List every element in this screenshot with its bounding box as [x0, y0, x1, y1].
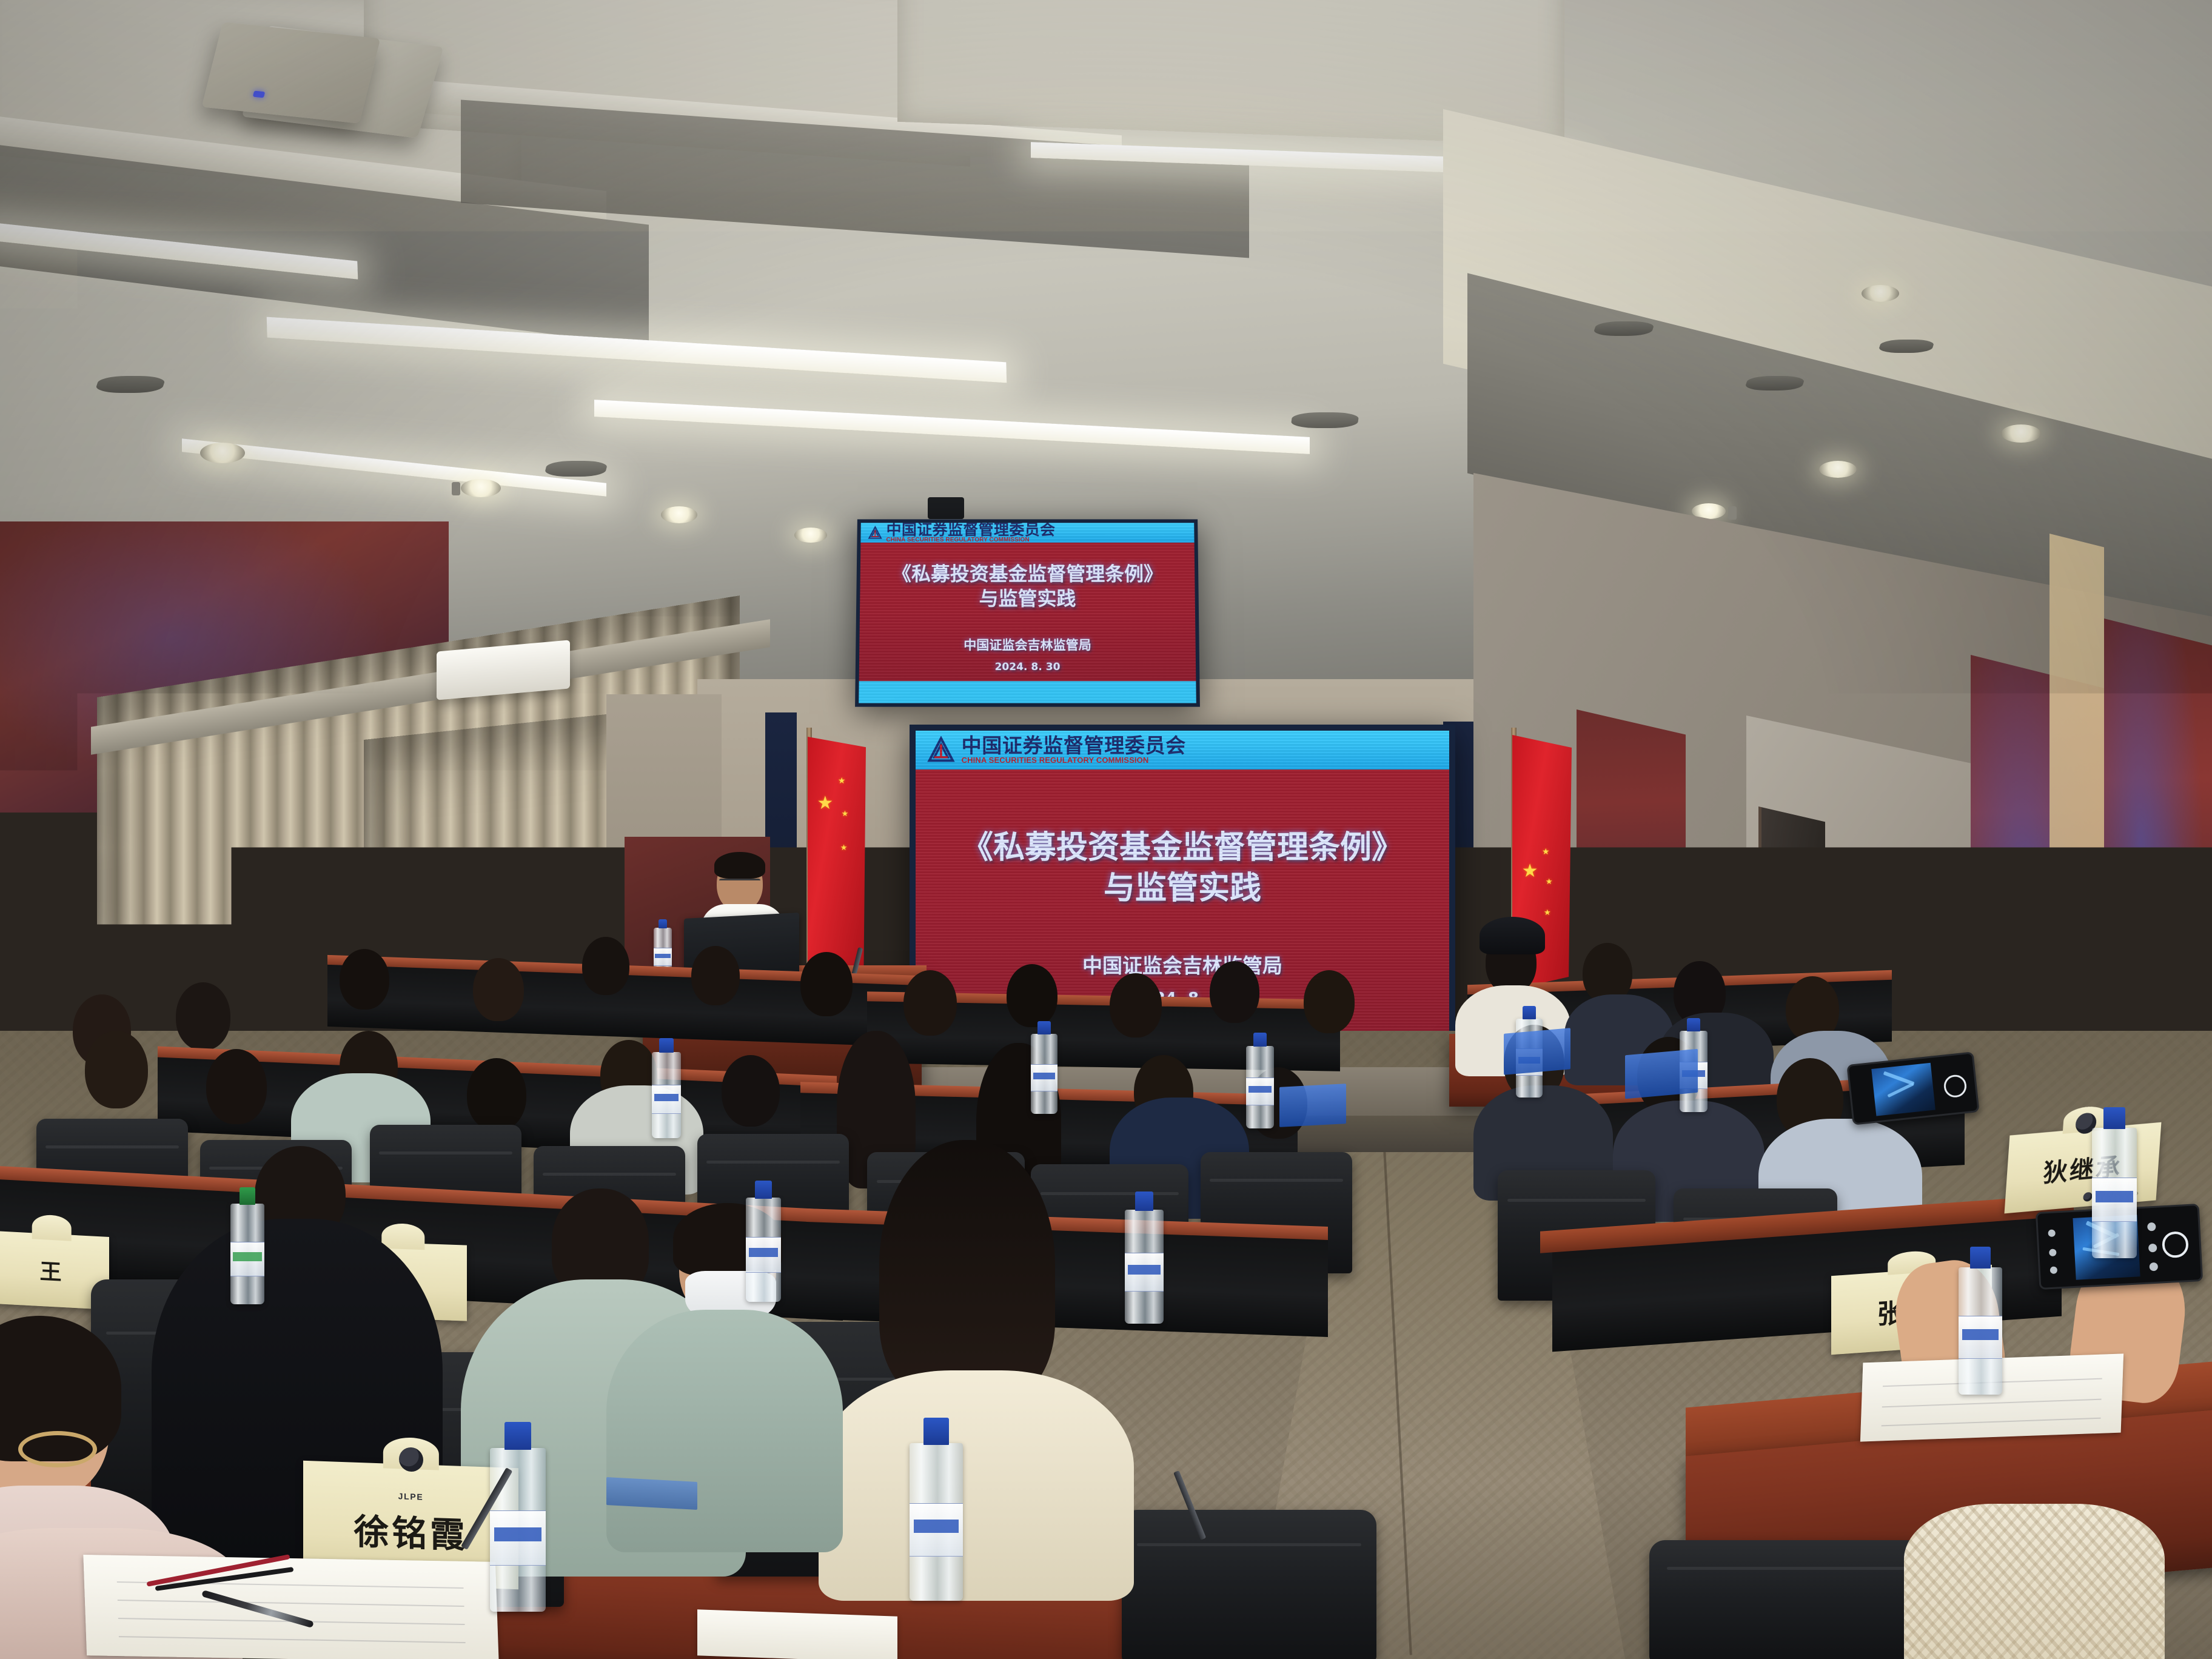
overhead-title: 《私募投资基金监督管理条例》 与监管实践: [892, 561, 1164, 611]
shutter-button[interactable]: [2162, 1232, 2188, 1258]
chair-foreground-4[interactable]: [1122, 1510, 1376, 1659]
audience-head-c4: [1110, 973, 1162, 1037]
overhead-monitor[interactable]: 中国证券监督管理委员会 CHINA SECURITIES REGULATORY …: [855, 519, 1200, 706]
ceiling-projector: [202, 22, 381, 123]
bottle-cap: [659, 1038, 673, 1053]
ceiling-vent-4: [1744, 376, 1806, 390]
placard-name-xu: 徐铭霞: [354, 1503, 468, 1558]
audience-head-f5: [582, 937, 629, 995]
audience-head-m4: [467, 1058, 526, 1131]
csrc-wordmark: 中国证券监督管理委员会 CHINA SECURITIES REGULATORY …: [886, 522, 1055, 543]
csrc-triangle-logo-main: [927, 736, 955, 764]
audience-laptop-4[interactable]: [606, 1477, 697, 1510]
csrc-wordmark-main: 中国证券监督管理委员会 CHINA SECURITIES REGULATORY …: [962, 736, 1186, 764]
bottle-label: [490, 1510, 546, 1566]
bottle-label: [2092, 1178, 2137, 1222]
audience-head-f1: [176, 982, 230, 1050]
downlight-9: [1862, 285, 1899, 302]
audience-head-m1: [85, 1031, 148, 1108]
projector-led: [253, 90, 265, 98]
water-bottle-3: [1125, 1210, 1164, 1324]
phone-ui-dot-1: [2048, 1229, 2056, 1237]
ceiling-vent-2: [544, 461, 608, 477]
notepad-center: [697, 1609, 897, 1659]
ceiling-vent-5: [1877, 340, 1935, 353]
water-bottle-11: [1959, 1267, 2002, 1395]
jlpe-mark-xu: [399, 1447, 423, 1472]
bottle-label: [230, 1242, 264, 1276]
phone-mode-dot-2[interactable]: [2148, 1243, 2157, 1252]
water-bottle-6: [1031, 1034, 1057, 1114]
csrc-name-en: CHINA SECURITIES REGULATORY COMMISSION: [886, 537, 1055, 543]
audience-head-c1: [800, 952, 853, 1016]
audience-head-f4: [473, 958, 524, 1021]
csrc-name-en-main: CHINA SECURITIES REGULATORY COMMISSION: [962, 756, 1186, 764]
bottle-cap: [240, 1187, 256, 1204]
placard-name: 王: [40, 1254, 64, 1287]
bottle-label: [1246, 1078, 1274, 1105]
sprinkler-head-3: [1728, 506, 1737, 520]
water-bottle-12: [230, 1204, 264, 1304]
flag-star-small-right-3: ★: [1544, 908, 1551, 916]
overhead-slide-body: 《私募投资基金监督管理条例》 与监管实践 中国证监会吉林监管局 2024. 8.…: [859, 543, 1196, 703]
phone-ui-dot-3: [2049, 1266, 2057, 1274]
water-bottle-7: [1246, 1046, 1274, 1128]
person-torso: [606, 1310, 843, 1552]
flag-star-small-left: ★: [838, 776, 846, 785]
phone-mode-dot-1[interactable]: [2147, 1222, 2156, 1232]
downlight-3: [661, 506, 697, 523]
audience-laptop-3[interactable]: [1279, 1084, 1346, 1127]
downlight-2: [461, 479, 501, 497]
overhead-title-line1: 《私募投资基金监督管理条例》: [892, 561, 1163, 586]
placard-di-jicheng: 狄继承 吉林股权交易中心: [2005, 1122, 2162, 1214]
main-title-line2: 与监管实践: [962, 868, 1403, 909]
water-bottle-10: [2092, 1128, 2137, 1258]
downlight-7: [2001, 424, 2041, 443]
water-bottle-foreground-1: [490, 1448, 546, 1612]
main-title-line1: 《私募投资基金监督管理条例》: [962, 828, 1403, 868]
bottle-label: [1031, 1064, 1057, 1091]
bottle-label: [910, 1503, 963, 1557]
downlight-5: [1819, 461, 1857, 478]
presenter-glasses: [719, 879, 760, 885]
shutter-button-secondary[interactable]: [1943, 1074, 1967, 1098]
audience-head-c3: [1007, 964, 1057, 1027]
overhead-date: 2024. 8. 30: [994, 661, 1060, 673]
flag-star-large-right: ★: [1522, 862, 1538, 880]
overhead-title-line2: 与监管实践: [892, 586, 1164, 611]
bottle-cap: [504, 1422, 531, 1450]
audience-head-m2: [206, 1049, 267, 1124]
overhead-organization: 中国证监会吉林监管局: [964, 635, 1091, 654]
csrc-name-cn-main: 中国证券监督管理委员会: [962, 736, 1186, 756]
downlight-4: [794, 528, 827, 543]
water-bottle-5: [652, 1052, 681, 1138]
audience-head-m6: [722, 1055, 780, 1127]
overhead-meta: 中国证监会吉林监管局 2024. 8. 30: [964, 635, 1091, 673]
overhead-slide: 中国证券监督管理委员会 CHINA SECURITIES REGULATORY …: [859, 523, 1196, 703]
main-title: 《私募投资基金监督管理条例》 与监管实践: [962, 828, 1403, 908]
person-torso-lace: [1904, 1504, 2165, 1659]
bottle-label: [652, 1085, 681, 1114]
bottle-cap: [1970, 1247, 1991, 1269]
presenter-hair: [714, 852, 765, 879]
downlight-1: [200, 443, 245, 463]
bottle-cap: [1687, 1018, 1700, 1032]
person-glasses: [18, 1431, 97, 1467]
flag-star-small-right-2: ★: [1546, 877, 1553, 885]
audience-laptop-1[interactable]: [1504, 1028, 1570, 1075]
bottle-label: [746, 1237, 781, 1272]
bottle-cap: [2103, 1107, 2125, 1130]
phone-mode-dot-3[interactable]: [2149, 1262, 2158, 1272]
bottle-label: [1959, 1316, 2002, 1359]
overhead-monitor-mount: [928, 497, 964, 519]
bottle-cap: [1037, 1021, 1050, 1034]
audience-head-c5: [1210, 961, 1259, 1023]
bottle-cap: [755, 1181, 772, 1198]
ceiling-vent-3: [1592, 321, 1655, 336]
ceiling-vent-1: [94, 376, 166, 393]
overhead-slide-header: 中国证券监督管理委员会 CHINA SECURITIES REGULATORY …: [860, 523, 1194, 542]
person-hair-long: [879, 1140, 1055, 1401]
csrc-name-cn: 中国证券监督管理委员会: [886, 522, 1055, 537]
water-bottle-4: [746, 1198, 781, 1302]
flag-star-small-left-2: ★: [842, 809, 849, 817]
csrc-triangle-logo: [868, 526, 883, 540]
phone-ui-dot-2: [2049, 1248, 2057, 1256]
sprinkler-head-1: [452, 482, 460, 495]
audience-cap-hat: [1480, 917, 1545, 954]
placard-brand-xu: JLPE: [398, 1491, 424, 1501]
bottle-cap: [1253, 1033, 1267, 1047]
person-torso: [819, 1370, 1134, 1601]
conference-room-photo: 中国证券监督管理委员会 CHINA SECURITIES REGULATORY …: [0, 0, 2212, 1659]
audience-head-f6: [691, 946, 740, 1005]
flag-star-large-left: ★: [817, 794, 833, 813]
bottle-cap: [659, 919, 667, 928]
main-slide-header: 中国证券监督管理委员会 CHINA SECURITIES REGULATORY …: [916, 731, 1449, 769]
audience-head-c2: [903, 970, 957, 1036]
bottle-label: [654, 948, 672, 966]
water-bottle-foreground-2: [910, 1443, 963, 1601]
person-with-phone: [1892, 1243, 2212, 1659]
audience-head-f3: [340, 949, 389, 1010]
flag-star-small-left-3: ★: [840, 843, 848, 851]
bottle-cap: [923, 1418, 949, 1444]
ceiling-vent-6: [1290, 412, 1359, 428]
audience-laptop-2[interactable]: [1625, 1049, 1698, 1099]
bottle-cap: [1523, 1006, 1535, 1019]
bottle-label: [1125, 1253, 1164, 1292]
bottle-cap: [1135, 1191, 1154, 1211]
audience-head-c6: [1304, 970, 1355, 1033]
phone-viewfinder-secondary: [1871, 1062, 1935, 1116]
flag-star-small-right: ★: [1542, 847, 1550, 856]
